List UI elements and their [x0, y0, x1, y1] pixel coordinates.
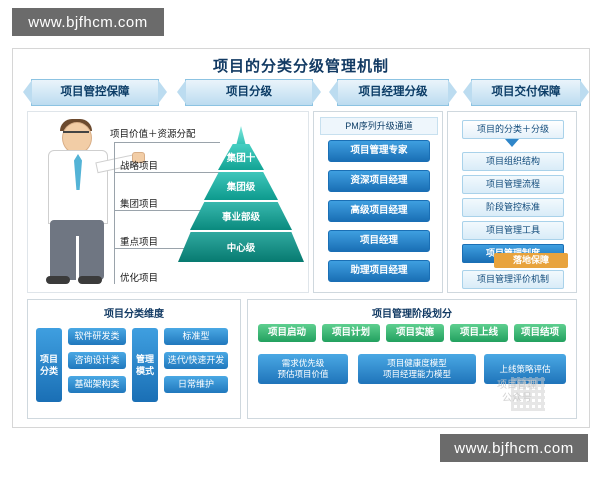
glasses-icon: [63, 131, 89, 139]
label-strategic-project: 战略项目: [120, 158, 158, 172]
tag-management-mode: 管理模式: [132, 328, 158, 402]
shoe-left: [46, 276, 70, 284]
pyramid-tier-2: 集团级: [204, 172, 278, 200]
banner-pm-grading: 项目经理分级: [337, 79, 449, 106]
shoe-right: [78, 276, 102, 284]
delivery-item-stage-standard: 阶段管控标准: [462, 198, 564, 217]
legs-divider: [76, 236, 79, 280]
delivery-top-box: 项目的分类＋分级: [462, 120, 564, 139]
tag-project-classification: 项目分类: [36, 328, 62, 402]
mode-item-maintenance: 日常维护: [164, 376, 228, 393]
type-item-consulting: 咨询设计类: [68, 352, 126, 369]
banner-delivery-assurance: 项目交付保障: [471, 79, 581, 106]
pyramid-apex: [236, 126, 246, 146]
pm-level-senior-advanced: 资深项目经理: [328, 170, 430, 192]
classification-title: 项目分类维度: [28, 305, 240, 320]
stage-golive: 项目上线: [450, 324, 508, 342]
pyramid-chart: 集团十 集团级 事业部级 中心级: [178, 124, 304, 284]
banner-project-control: 项目管控保障: [31, 79, 159, 106]
pm-level-manager: 项目经理: [328, 230, 430, 252]
pm-level-expert: 项目管理专家: [328, 140, 430, 162]
watermark-bottom: www.bjfhcm.com: [440, 434, 588, 462]
delivery-item-process: 项目管理流程: [462, 175, 564, 194]
slide-frame: 项目的分类分级管理机制 项目管控保障 项目分级 项目经理分级 项目交付保障 项目…: [12, 48, 590, 428]
watermark-top: www.bjfhcm.com: [12, 8, 164, 36]
stage-planning: 项目计划: [322, 324, 380, 342]
label-group-project: 集团项目: [120, 196, 158, 210]
type-item-software-rd: 软件研发类: [68, 328, 126, 345]
mode-item-iterative: 迭代/快速开发: [164, 352, 228, 369]
stage-execution: 项目实施: [386, 324, 444, 342]
banner-project-grading: 项目分级: [185, 79, 313, 106]
page-title: 项目的分类分级管理机制: [13, 55, 589, 76]
type-item-infrastructure: 基础架构类: [68, 376, 126, 393]
pyramid-tier-1: 集团十: [218, 144, 264, 170]
pyramid-tier-4: 中心级: [178, 232, 304, 262]
pm-level-advanced: 高级项目经理: [328, 200, 430, 222]
delivery-evaluation-box: 项目管理评价机制: [462, 270, 564, 289]
label-optimization-project: 优化项目: [120, 270, 158, 284]
delivery-panel: 项目的分类＋分级 项目组织结构 项目管理流程 阶段管控标准 项目管理工具 项目管…: [447, 111, 577, 293]
leader-line-vertical: [114, 142, 115, 284]
mode-item-standard: 标准型: [164, 328, 228, 345]
stage-initiation: 项目启动: [258, 324, 316, 342]
classification-dimension-panel: 项目分类维度 项目分类 管理模式 软件研发类 咨询设计类 基础架构类 标准型 迭…: [27, 299, 241, 419]
businessman-illustration: [34, 118, 126, 286]
delivery-item-tools: 项目管理工具: [462, 221, 564, 240]
detail-health-model: 项目健康度模型 项目经理能力模型: [358, 354, 476, 384]
pm-level-assistant: 助理项目经理: [328, 260, 430, 282]
wechat-watermark: 项目管理 公众号: [465, 379, 569, 421]
delivery-item-org: 项目组织结构: [462, 152, 564, 171]
landing-assurance-ribbon: 落地保障: [494, 253, 568, 268]
stage-title: 项目管理阶段划分: [248, 305, 576, 320]
detail-requirement-priority: 需求优先级 预估项目价值: [258, 354, 348, 384]
pm-ladder-header: PM序列升级通道: [320, 117, 438, 135]
pyramid-panel: 项目价值＋资源分配 战略项目 集团项目 重点项目 优化项目 集团十 集团级 事业…: [27, 111, 309, 293]
down-arrow-icon: [505, 139, 519, 147]
label-key-project: 重点项目: [120, 234, 158, 248]
pm-ladder-panel: PM序列升级通道 项目管理专家 资深项目经理 高级项目经理 项目经理 助理项目经…: [313, 111, 443, 293]
pyramid-tier-3: 事业部级: [190, 202, 292, 230]
stage-closure: 项目结项: [514, 324, 566, 342]
